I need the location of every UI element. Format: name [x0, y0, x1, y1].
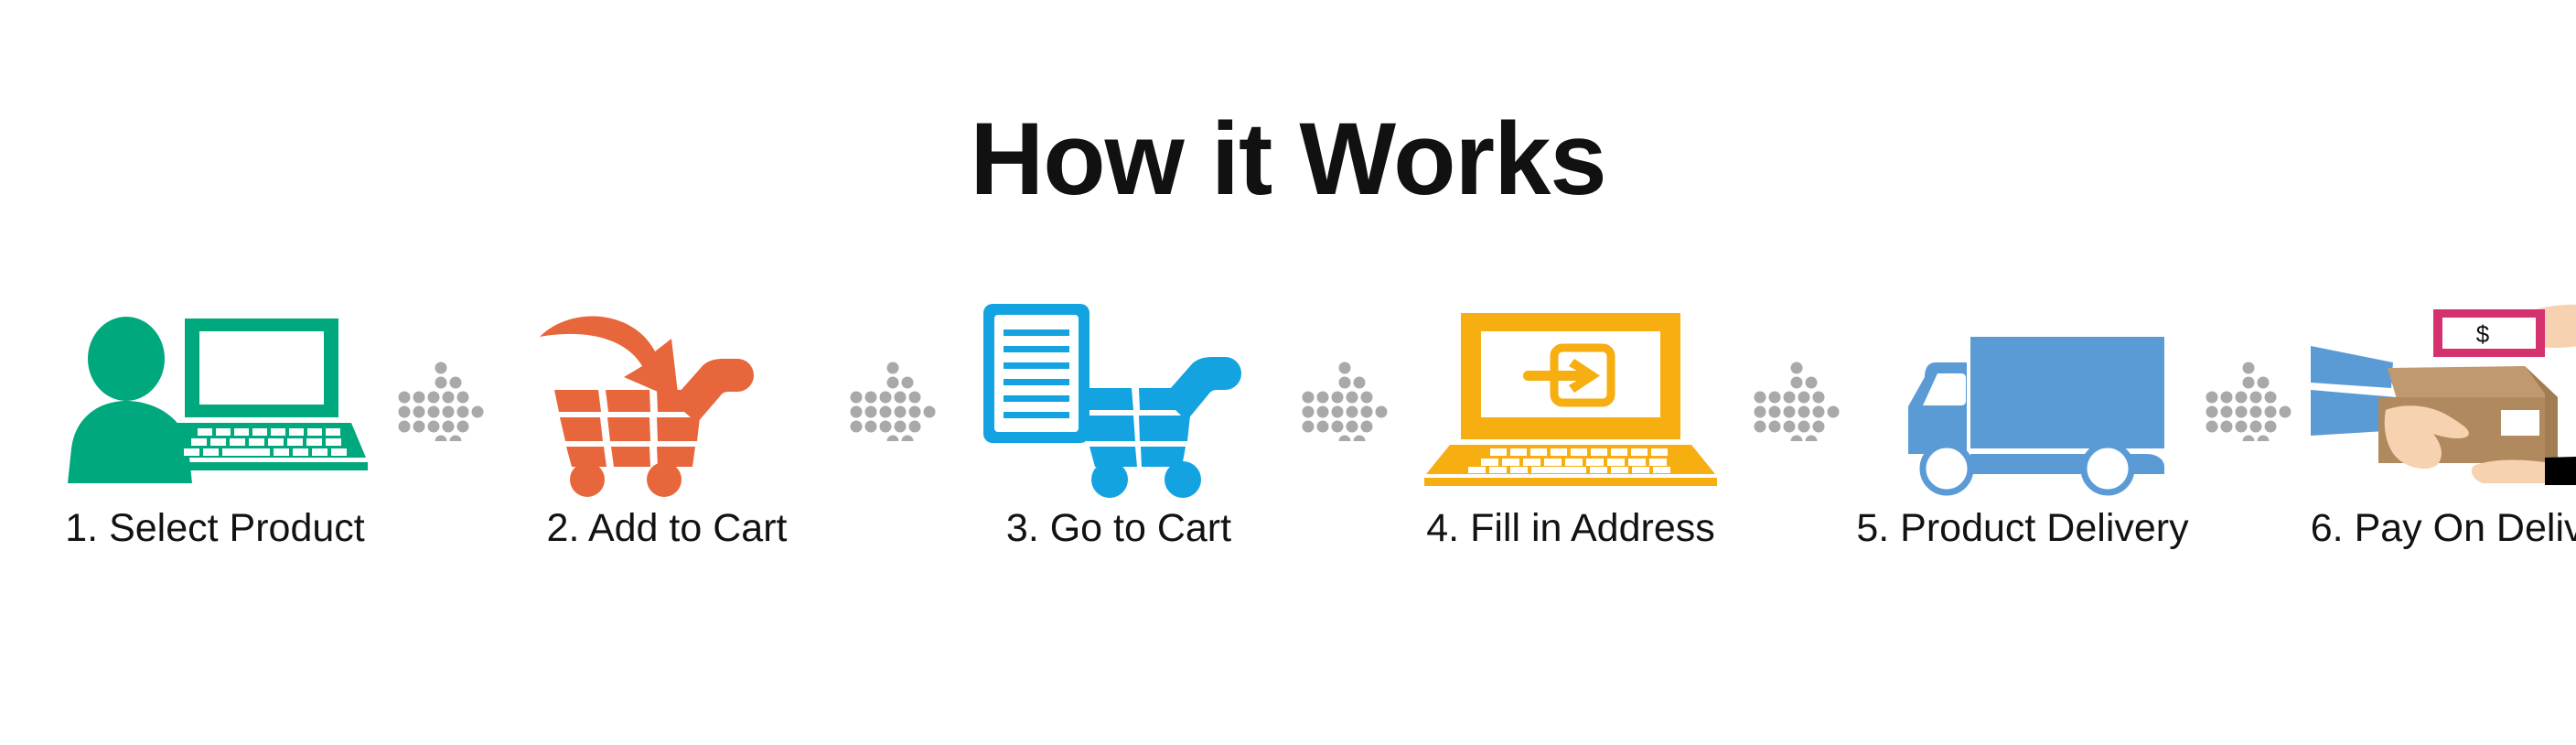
- hands-box-money-icon: $: [2305, 302, 2576, 485]
- separator-arrow-4: [1749, 308, 1844, 491]
- separator-arrow-5: [2201, 308, 2296, 491]
- blue-sleeve-upper: [2311, 346, 2393, 388]
- hand-bottom: [2472, 460, 2552, 484]
- page-title: How it Works: [0, 108, 2576, 211]
- laptop-login-icon: [1424, 311, 1717, 485]
- separator-arrow-3: [1297, 308, 1392, 491]
- banknote-dollar-symbol: $: [2476, 320, 2490, 348]
- step-4-fill-in-address[interactable]: 4. Fill in Address: [1392, 302, 1749, 548]
- step-5-icon-box: [1844, 302, 2201, 485]
- step-1-select-product[interactable]: 1. Select Product: [37, 302, 393, 548]
- step-6-label: 6. Pay On Delivery: [2311, 509, 2576, 548]
- steps-row: 1. Select Product: [37, 302, 2539, 632]
- step-4-label: 4. Fill in Address: [1426, 509, 1714, 548]
- step-3-go-to-cart[interactable]: 3. Go to Cart: [940, 302, 1297, 548]
- step-6-pay-on-delivery[interactable]: $: [2296, 302, 2576, 548]
- dotted-arrow-right-icon: [849, 357, 937, 441]
- step-5-product-delivery[interactable]: 5. Product Delivery: [1844, 302, 2201, 548]
- dotted-arrow-right-icon: [397, 357, 485, 441]
- cart-with-arrow-icon: [534, 302, 800, 485]
- step-3-icon-box: [940, 302, 1297, 485]
- step-5-label: 5. Product Delivery: [1856, 509, 2188, 548]
- step-4-icon-box: [1392, 302, 1749, 485]
- separator-arrow-1: [393, 308, 488, 491]
- person-laptop-icon: [64, 311, 366, 485]
- dotted-arrow-right-icon: [1753, 357, 1841, 441]
- step-6-icon-box: $: [2296, 302, 2576, 485]
- dotted-arrow-right-icon: [1301, 357, 1389, 441]
- delivery-truck-icon: [1872, 311, 2173, 485]
- step-1-icon-box: [37, 302, 393, 485]
- step-3-label: 3. Go to Cart: [1006, 509, 1231, 548]
- step-2-icon-box: [488, 302, 845, 485]
- step-2-add-to-cart[interactable]: 2. Add to Cart: [488, 302, 845, 548]
- cart-with-document-icon: [982, 302, 1256, 485]
- dotted-arrow-right-icon: [2205, 357, 2292, 441]
- separator-arrow-2: [845, 308, 940, 491]
- box-top: [2388, 366, 2558, 399]
- step-2-label: 2. Add to Cart: [547, 509, 788, 548]
- step-1-label: 1. Select Product: [65, 509, 364, 548]
- black-sleeve-bottom: [2545, 456, 2576, 485]
- how-it-works-infographic: How it Works: [0, 0, 2576, 745]
- box-label: [2501, 410, 2539, 436]
